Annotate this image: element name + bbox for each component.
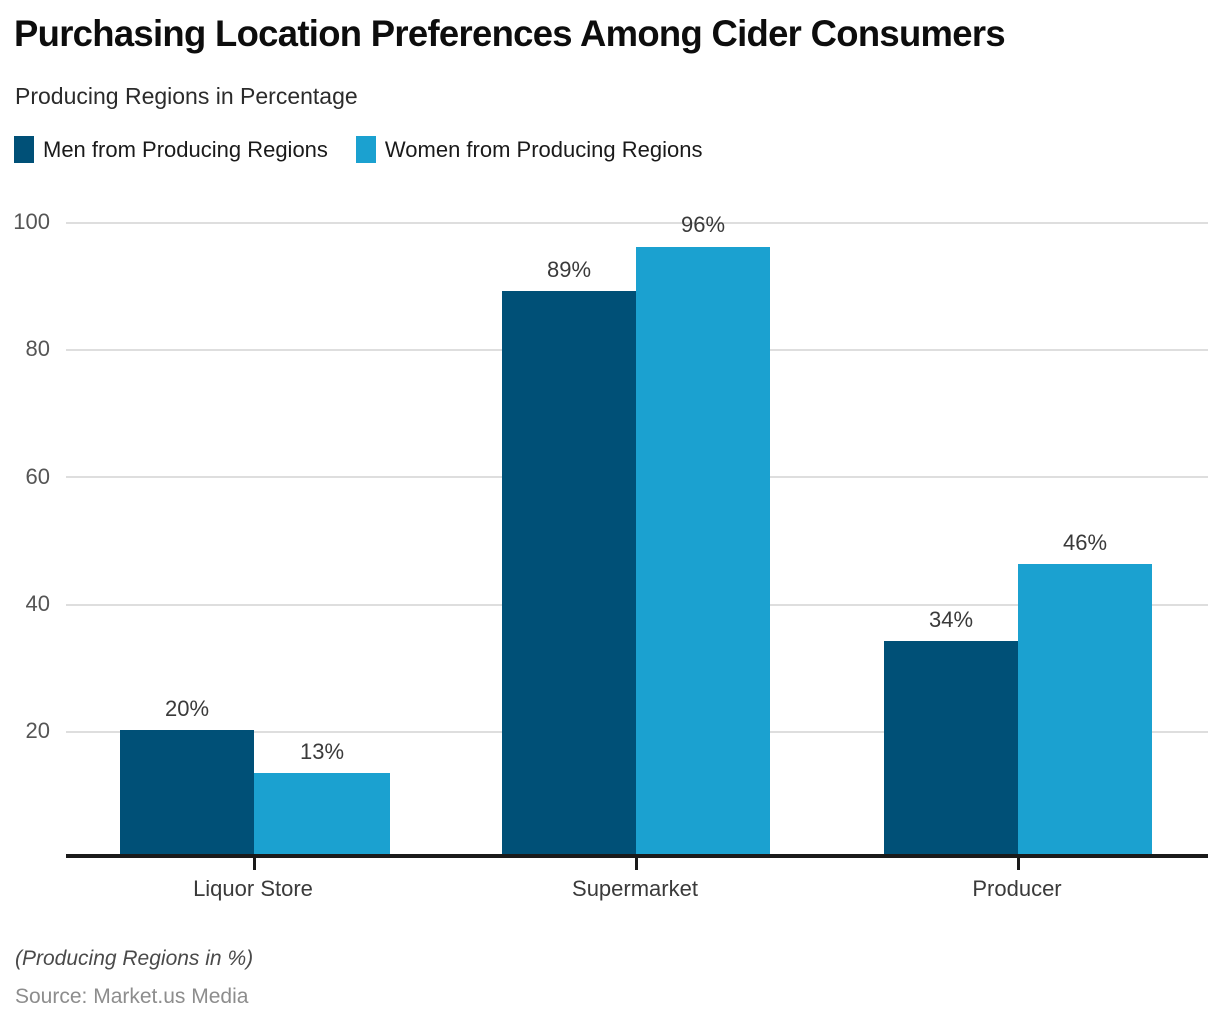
x-axis-label-producer: Producer <box>899 876 1135 902</box>
y-axis-tick-40: 40 <box>0 593 50 615</box>
bar-women-liquor-store[interactable] <box>254 773 390 854</box>
footer-note: (Producing Regions in %) <box>15 946 253 972</box>
bar-men-producer[interactable] <box>884 641 1018 854</box>
bar-value-label-women-producer: 46% <box>1018 531 1152 555</box>
bar-value-label-men-liquor-store: 20% <box>120 697 254 721</box>
x-axis-tick-mark-producer <box>1017 858 1020 870</box>
x-axis-tick-mark-liquor-store <box>253 858 256 870</box>
y-axis-tick-60: 60 <box>0 466 50 488</box>
bar-men-liquor-store[interactable] <box>120 730 254 854</box>
bar-women-producer[interactable] <box>1018 564 1152 854</box>
y-axis-tick-80: 80 <box>0 338 50 360</box>
x-axis-tick-mark-supermarket <box>635 858 638 870</box>
x-axis-label-liquor-store: Liquor Store <box>135 876 371 902</box>
bar-men-supermarket[interactable] <box>502 291 636 854</box>
x-axis-label-supermarket: Supermarket <box>517 876 753 902</box>
bar-value-label-women-liquor-store: 13% <box>254 740 390 764</box>
chart-plot-area: 100 80 60 40 20 20% 13% 89% 96% 34% 46% … <box>0 0 1220 1020</box>
bar-value-label-men-producer: 34% <box>884 608 1018 632</box>
bar-value-label-women-supermarket: 96% <box>636 213 770 237</box>
bar-women-supermarket[interactable] <box>636 247 770 854</box>
bar-value-label-men-supermarket: 89% <box>502 258 636 282</box>
y-axis-tick-100: 100 <box>0 211 50 233</box>
y-axis-tick-20: 20 <box>0 720 50 742</box>
footer-source: Source: Market.us Media <box>15 984 248 1010</box>
